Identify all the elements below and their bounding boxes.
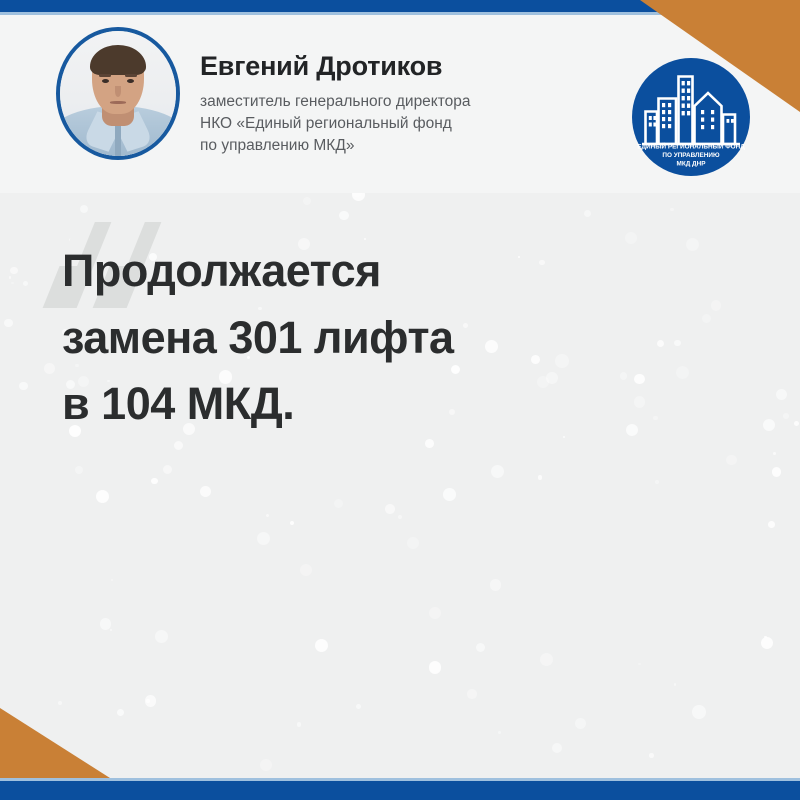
- person-role: заместитель генерального директора НКО «…: [200, 91, 620, 157]
- avatar: [56, 27, 180, 160]
- person-role-line-2: НКО «Единый региональный фонд: [200, 113, 620, 135]
- quote-line-1: Продолжается: [62, 238, 712, 305]
- person-role-line-1: заместитель генерального директора: [200, 91, 620, 113]
- bottom-left-orange-triangle: [0, 708, 110, 778]
- logo-text-line-3: МКД ДНР: [677, 160, 707, 167]
- quote-line-3: в 104 МКД.: [62, 371, 712, 438]
- organization-logo: ЕДИНЫЙ РЕГИОНАЛЬНЫЙ ФОНД ПО УПРАВЛЕНИЮ М…: [632, 58, 750, 176]
- person-name: Евгений Дротиков: [200, 52, 620, 82]
- logo-text-line-1: ЕДИНЫЙ РЕГИОНАЛЬНЫЙ ФОНД: [637, 142, 745, 151]
- person-role-line-3: по управлению МКД»: [200, 135, 620, 157]
- person-info: Евгений Дротиков заместитель генеральног…: [200, 52, 620, 157]
- quote-line-2: замена 301 лифта: [62, 305, 712, 372]
- avatar-photo: [60, 31, 176, 156]
- poster-canvas: Евгений Дротиков заместитель генеральног…: [0, 0, 800, 800]
- quote-text: Продолжается замена 301 лифта в 104 МКД.: [62, 238, 712, 438]
- logo-text-line-2: ПО УПРАВЛЕНИЮ: [662, 152, 720, 159]
- bottom-blue-bar: [0, 781, 800, 800]
